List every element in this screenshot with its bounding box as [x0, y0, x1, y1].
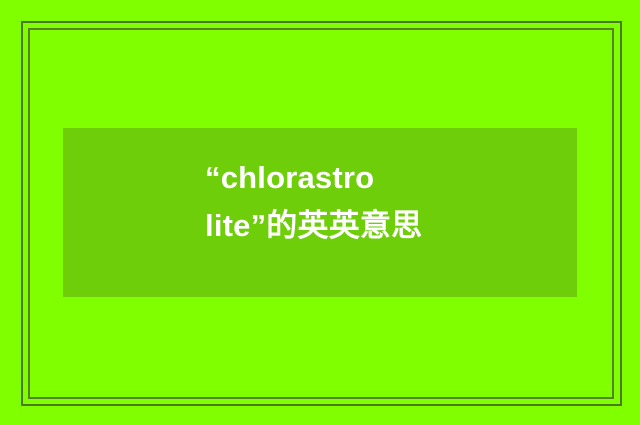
page-title: “chlorastro lite”的英英意思: [205, 154, 535, 250]
page-title-line-2: lite”的英英意思: [205, 202, 535, 250]
title-card-panel: “chlorastro lite”的英英意思: [63, 128, 577, 297]
page-canvas: “chlorastro lite”的英英意思: [0, 0, 640, 425]
page-title-line-1: “chlorastro: [205, 154, 535, 202]
